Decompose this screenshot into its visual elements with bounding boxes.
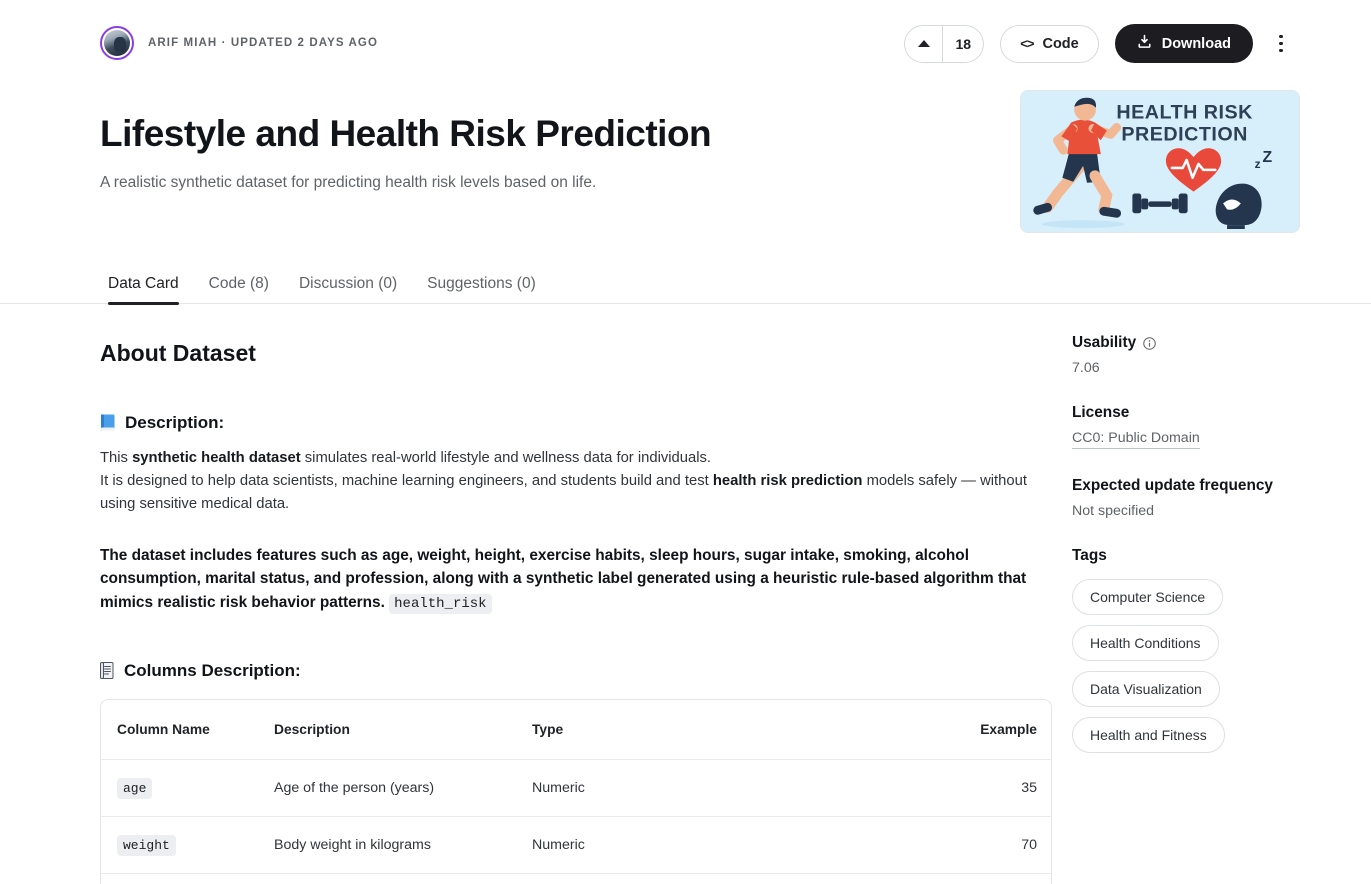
dataset-banner-image: HEALTH RISK PREDICTION z Z	[1020, 90, 1300, 233]
description-heading-label: Description:	[125, 413, 224, 433]
columns-table: Column Name Description Type Example age…	[101, 700, 1052, 884]
desc-p1-bold: synthetic health dataset	[132, 450, 301, 466]
features-paragraph: The dataset includes features such as ag…	[100, 544, 1052, 616]
more-options-button[interactable]	[1269, 25, 1293, 63]
download-icon	[1137, 34, 1152, 53]
svg-text:HEALTH RISK: HEALTH RISK	[1116, 102, 1253, 124]
tag-data-visualization[interactable]: Data Visualization	[1072, 671, 1220, 707]
desc-p1-part-c: simulates real-world lifestyle and welln…	[301, 450, 711, 466]
table-cell-type: Numeric	[516, 760, 936, 817]
table-cell-example: 35	[936, 760, 1052, 817]
desc-p2-bold: health risk prediction	[713, 473, 863, 489]
update-frequency-block: Expected update frequency Not specified	[1072, 477, 1312, 519]
tab-data-card[interactable]: Data Card	[108, 275, 179, 304]
sidebar: Usability 7.06 License CC0: Public Domai…	[1072, 334, 1312, 753]
svg-text:Z: Z	[1263, 149, 1273, 166]
tab-bar: Data Card Code (8) Discussion (0) Sugges…	[0, 258, 1371, 304]
page-title: Lifestyle and Health Risk Prediction	[100, 113, 711, 156]
tags-block: Tags Computer Science Health Conditions …	[1072, 547, 1312, 753]
dataset-page: ARIF MIAH · UPDATED 2 DAYS AGO 18 <> Cod…	[0, 0, 1371, 884]
table-cell-column-name: age	[101, 760, 258, 817]
usability-block: Usability 7.06	[1072, 334, 1312, 376]
table-cell-column-name: weight	[101, 817, 258, 874]
download-button-label: Download	[1162, 36, 1231, 52]
desc-p2-part-a: It is designed to help data scientists, …	[100, 473, 713, 489]
health-risk-code: health_risk	[389, 594, 491, 614]
upvote-button[interactable]	[905, 26, 943, 62]
license-heading: License	[1072, 404, 1312, 422]
main-column: About Dataset Description: This syntheti…	[100, 304, 1052, 884]
table-cell-example: 70	[936, 817, 1052, 874]
blue-book-icon	[100, 414, 116, 432]
table-row: weight Body weight in kilograms Numeric …	[101, 817, 1052, 874]
vote-count: 18	[943, 26, 983, 62]
table-cell-type: Numeric	[516, 874, 936, 884]
table-header-row: Column Name Description Type Example	[101, 700, 1052, 760]
usability-label: Usability	[1072, 334, 1136, 352]
features-paragraph-text: The dataset includes features such as ag…	[100, 547, 1026, 611]
column-name-code: age	[117, 778, 152, 799]
tags-list: Computer Science Health Conditions Data …	[1072, 579, 1312, 753]
download-button[interactable]: Download	[1115, 24, 1253, 63]
license-block: License CC0: Public Domain	[1072, 404, 1312, 449]
column-name-code: weight	[117, 835, 176, 856]
table-cell-description: Age of the person (years)	[258, 760, 516, 817]
tag-health-conditions[interactable]: Health Conditions	[1072, 625, 1219, 661]
update-frequency-value: Not specified	[1072, 503, 1312, 519]
avatar[interactable]	[100, 26, 134, 60]
description-paragraph-1: This synthetic health dataset simulates …	[100, 447, 1052, 516]
description-heading: Description:	[100, 413, 1052, 433]
tab-code[interactable]: Code (8)	[209, 275, 269, 304]
columns-table-wrapper: Column Name Description Type Example age…	[100, 699, 1052, 884]
table-row: age Age of the person (years) Numeric 35	[101, 760, 1052, 817]
code-brackets-icon: <>	[1020, 36, 1033, 51]
code-button-label: Code	[1042, 36, 1078, 52]
caret-up-icon	[918, 40, 930, 47]
desc-p1-part-a: This	[100, 450, 132, 466]
usability-value: 7.06	[1072, 360, 1312, 376]
usability-heading: Usability	[1072, 334, 1312, 352]
info-icon[interactable]	[1143, 337, 1156, 350]
tag-health-and-fitness[interactable]: Health and Fitness	[1072, 717, 1225, 753]
author-row[interactable]: ARIF MIAH · UPDATED 2 DAYS AGO	[100, 26, 378, 60]
tags-heading: Tags	[1072, 547, 1312, 565]
top-bar: ARIF MIAH · UPDATED 2 DAYS AGO 18 <> Cod…	[0, 0, 1371, 86]
table-header-type: Type	[516, 700, 936, 760]
columns-description-label: Columns Description:	[124, 661, 301, 681]
table-cell-description: Body weight in kilograms	[258, 817, 516, 874]
columns-description-heading: Columns Description:	[100, 661, 1052, 681]
vote-pill[interactable]: 18	[904, 25, 984, 63]
svg-text:PREDICTION: PREDICTION	[1121, 123, 1248, 145]
table-cell-example: 172	[936, 874, 1052, 884]
header-actions: 18 <> Code Download	[904, 24, 1293, 63]
scroll-icon	[100, 662, 115, 680]
table-cell-description: Height in centimeters	[258, 874, 516, 884]
table-header-example: Example	[936, 700, 1052, 760]
tab-suggestions[interactable]: Suggestions (0)	[427, 275, 536, 304]
table-header-description: Description	[258, 700, 516, 760]
table-cell-type: Numeric	[516, 817, 936, 874]
page-subtitle: A realistic synthetic dataset for predic…	[100, 174, 596, 192]
dot-icon	[1279, 35, 1283, 39]
about-dataset-heading: About Dataset	[100, 340, 1052, 367]
dot-icon	[1279, 49, 1283, 53]
license-link[interactable]: CC0: Public Domain	[1072, 430, 1200, 449]
author-meta: ARIF MIAH · UPDATED 2 DAYS AGO	[148, 37, 378, 49]
tag-computer-science[interactable]: Computer Science	[1072, 579, 1223, 615]
table-header-column-name: Column Name	[101, 700, 258, 760]
svg-text:z: z	[1255, 157, 1261, 171]
update-frequency-heading: Expected update frequency	[1072, 477, 1312, 495]
table-cell-column-name: height	[101, 874, 258, 884]
tab-discussion[interactable]: Discussion (0)	[299, 275, 397, 304]
table-row: height Height in centimeters Numeric 172	[101, 874, 1052, 884]
code-button[interactable]: <> Code	[1000, 25, 1098, 63]
dot-icon	[1279, 42, 1283, 46]
